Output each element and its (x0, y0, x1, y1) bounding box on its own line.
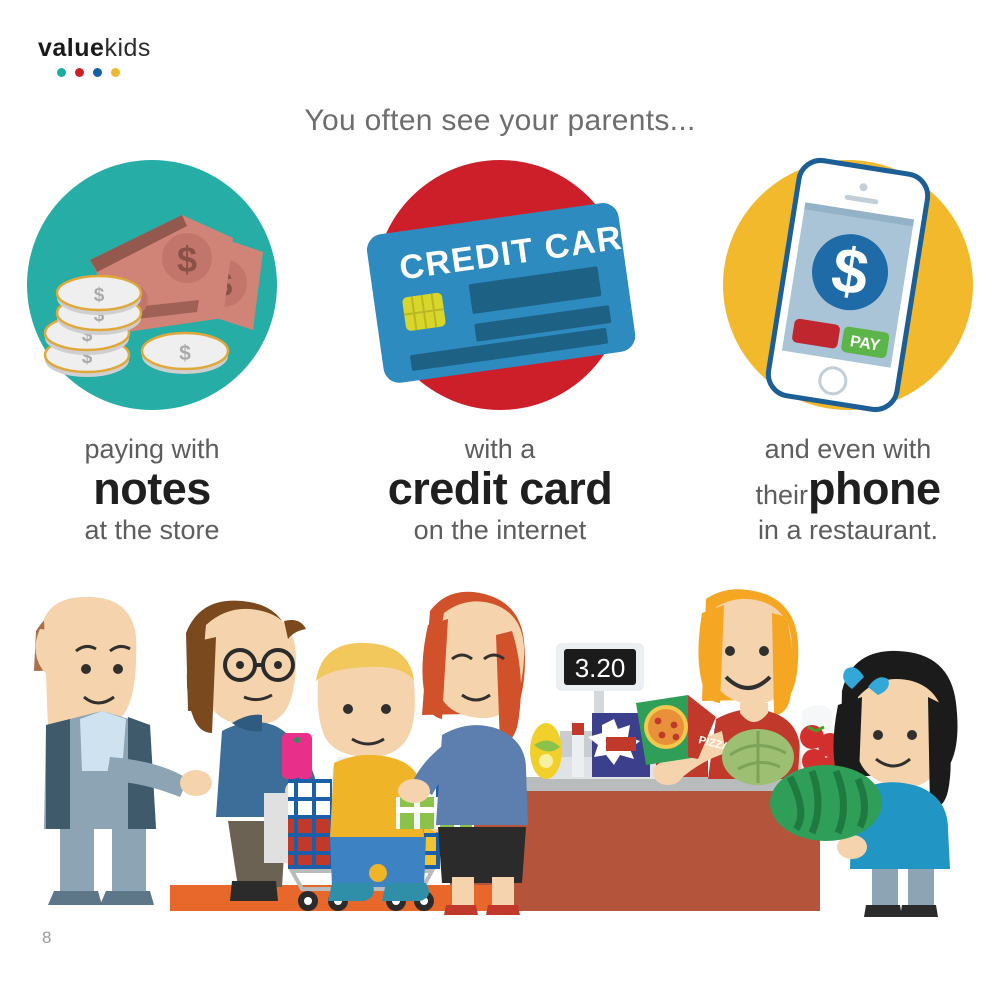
character-father (34, 597, 212, 905)
logo-dot-teal (57, 68, 66, 77)
brand-logo: valuekids (38, 36, 151, 77)
svg-text:$: $ (94, 285, 105, 306)
credit-card-illustration: CREDIT CARD (375, 160, 625, 410)
logo-dot-blue (93, 68, 102, 77)
page-headline: You often see your parents... (0, 104, 1000, 138)
logo-dot-red (75, 68, 84, 77)
logo-dots (38, 68, 151, 77)
phone-disc: $ PAY (723, 160, 973, 410)
notes-caption-top: paying with (84, 434, 219, 464)
notes-disc: $ $ $ $ $ (27, 160, 277, 410)
credit-card-caption: with a credit card on the internet (388, 434, 613, 545)
supermarket-checkout-illustration: 3.20 (0, 585, 1000, 925)
logo-bold-text: value (38, 34, 104, 62)
logo-dot-yellow (111, 68, 120, 77)
phone-caption-mid-bold: phone (808, 463, 940, 514)
notes-caption-bottom: at the store (84, 515, 219, 545)
payment-method-notes: $ $ $ $ $ (2, 160, 302, 545)
notes-caption: paying with notes at the store (84, 434, 219, 545)
credit-card-disc: CREDIT CARD (375, 160, 625, 410)
page-number: 8 (42, 928, 51, 948)
logo-light-text: kids (104, 34, 150, 62)
svg-text:$: $ (179, 342, 191, 365)
character-cashier: PIZZA (636, 589, 843, 785)
logo-wordmark: valuekids (38, 36, 151, 61)
payment-method-credit-card: CREDIT CARD with a credit card on the in… (350, 160, 650, 545)
phone-caption-top: and even with (755, 434, 940, 464)
register-display-value: 3.20 (575, 653, 626, 683)
credit-card-caption-top: with a (388, 434, 613, 464)
banknotes-and-coins-illustration: $ $ $ $ $ (27, 160, 277, 410)
svg-text:$: $ (177, 239, 197, 280)
phone-caption-bottom: in a restaurant. (755, 515, 940, 545)
payment-methods-row: $ $ $ $ $ (0, 160, 1000, 545)
credit-card-caption-mid: credit card (388, 464, 613, 514)
credit-card-caption-bottom: on the internet (388, 515, 613, 545)
smartphone-payment-illustration: $ PAY (723, 160, 973, 410)
phone-caption: and even with theirphone in a restaurant… (755, 434, 940, 545)
payment-method-phone: $ PAY and even with theirphone in a rest… (698, 160, 998, 545)
phone-caption-mid-light: their (755, 480, 808, 510)
phone-caption-mid: theirphone (755, 464, 940, 514)
notes-caption-mid: notes (84, 464, 219, 514)
